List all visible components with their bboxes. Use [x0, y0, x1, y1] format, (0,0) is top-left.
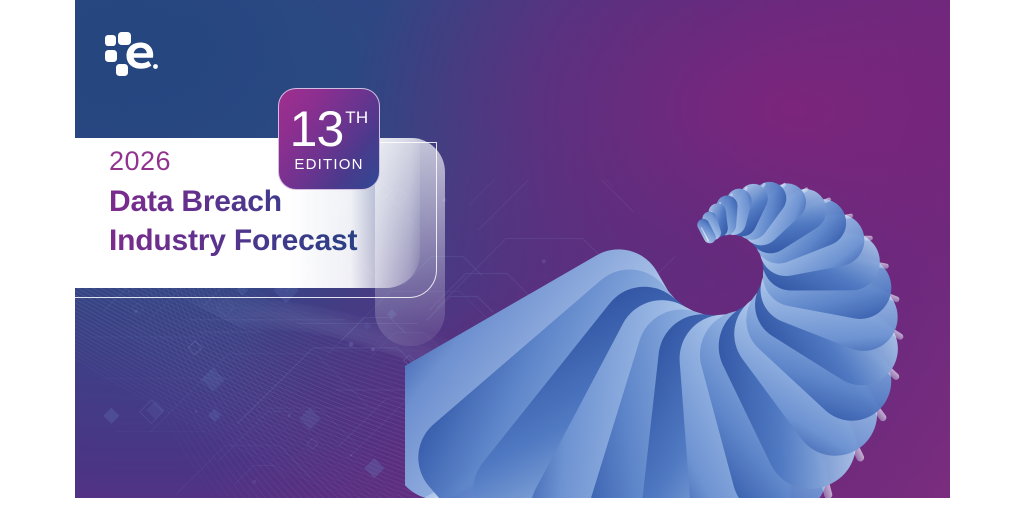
edition-number: 13: [290, 106, 344, 152]
artwork-area: 2026 Data Breach Industry Forecast 13 TH…: [75, 0, 950, 498]
edition-number-row: 13 TH: [290, 106, 369, 152]
spiral-fan-graphic: [405, 0, 950, 498]
headline-line-2: Industry Forecast: [109, 221, 409, 260]
edition-label: EDITION: [294, 156, 363, 173]
poster-canvas: 2026 Data Breach Industry Forecast 13 TH…: [0, 0, 1024, 512]
edition-ordinal: TH: [345, 109, 368, 126]
edition-badge: 13 TH EDITION: [278, 88, 380, 190]
experian-logo: [105, 32, 161, 78]
